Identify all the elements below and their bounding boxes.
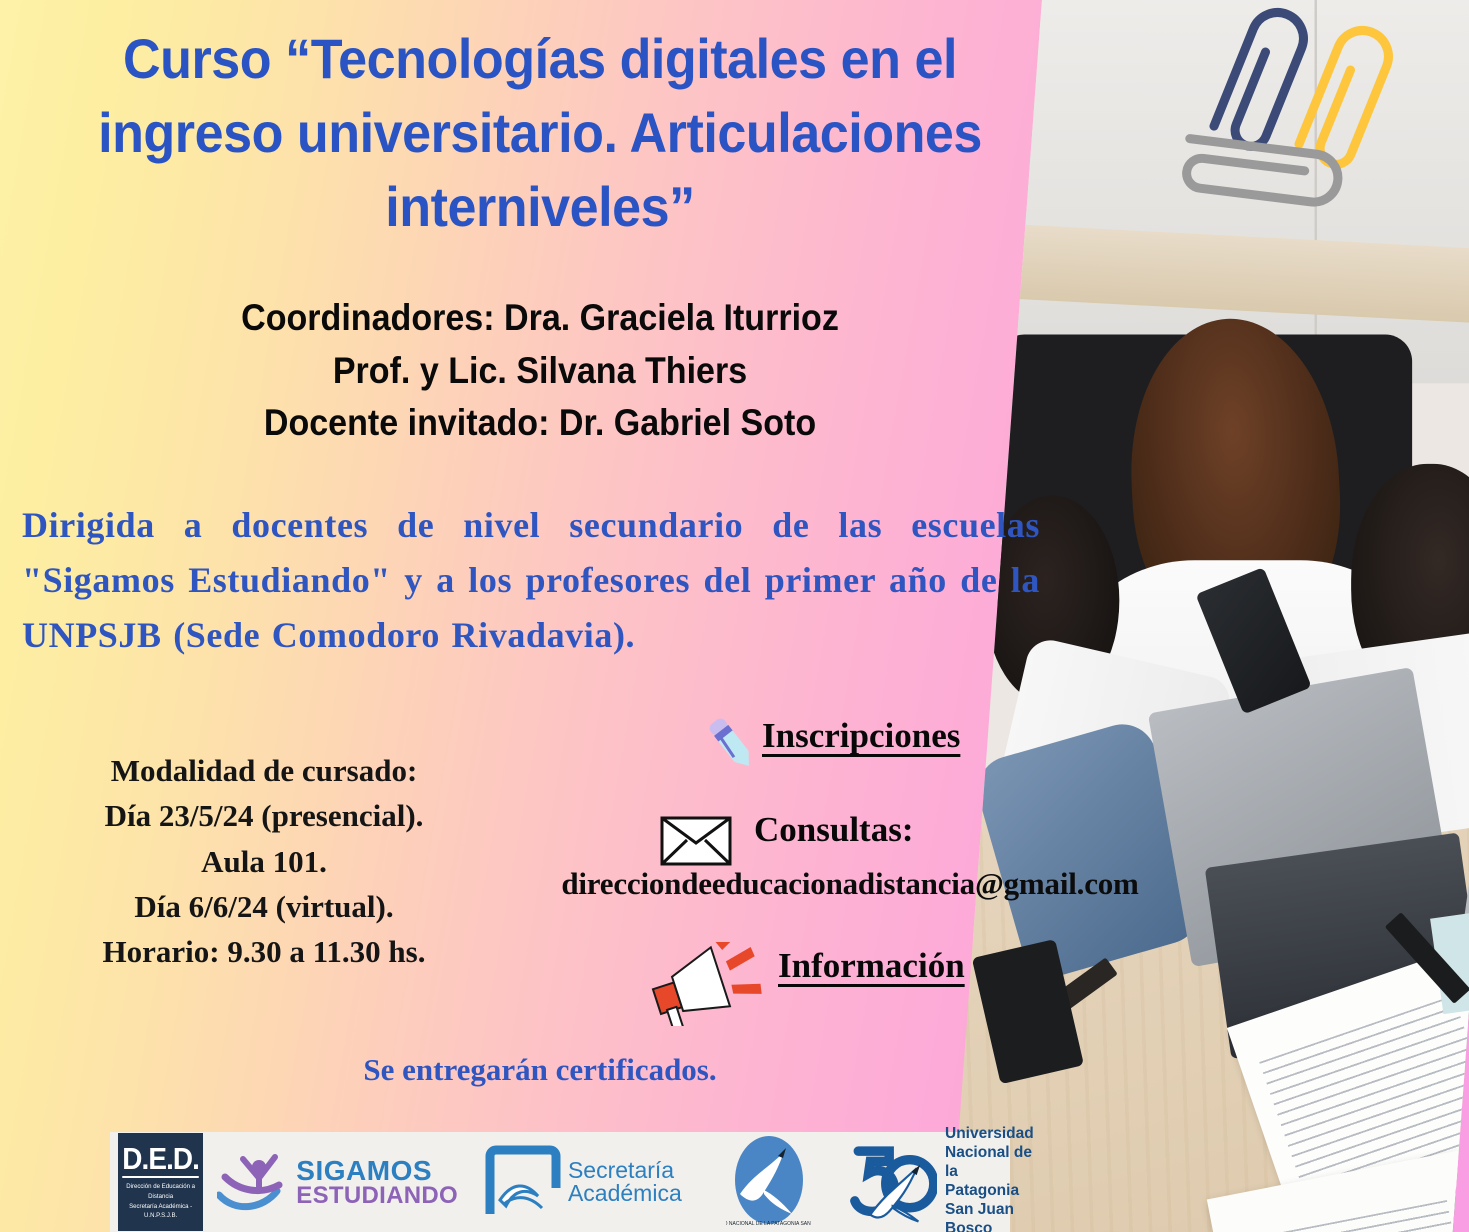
modality-line-5: Horario: 9.30 a 11.30 hs. xyxy=(14,929,514,974)
poster-canvas: Curso “Tecnologías digitales en el ingre… xyxy=(0,0,1469,1232)
coordinators-line-1: Coordinadores: Dra. Graciela Iturrioz xyxy=(71,292,1009,345)
certificates-note: Se entregarán certificados. xyxy=(30,1052,1050,1088)
fifty-anniversary-icon xyxy=(848,1136,937,1228)
logo-secretaria-academica: Secretaría Académica xyxy=(482,1142,682,1222)
pen-icon xyxy=(700,710,762,776)
universidad-line-3: Patagonia xyxy=(945,1182,1048,1201)
logo-unpsjb-seal: UNIVERSIDAD NACIONAL DE LA PATAGONIA SAN… xyxy=(726,1132,812,1232)
audience-paragraph: Dirigida a docentes de nivel secundario … xyxy=(22,498,1040,663)
ded-subtitle: Dirección de Educación a Distancia Secre… xyxy=(120,1182,201,1220)
paperclip-group xyxy=(1190,0,1469,288)
secretaria-wordmark: Secretaría Académica xyxy=(568,1159,682,1205)
megaphone-icon xyxy=(648,942,768,1026)
information-label: Información xyxy=(778,946,965,986)
sigamos-figure-icon xyxy=(217,1151,293,1213)
title-line-2: ingreso universitario. Articulaciones xyxy=(66,96,1015,170)
universidad-line-4: San Juan Bosco xyxy=(945,1201,1048,1232)
inscriptions-block: Inscripciones xyxy=(700,716,1060,768)
sigamos-line-2: ESTUDIANDO xyxy=(296,1184,458,1207)
information-block: Información xyxy=(648,938,1048,1028)
logo-ded: D.E.D. Dirección de Educación a Distanci… xyxy=(118,1133,203,1231)
ded-subtitle-line-2: Secretaría Académica - U.N.P.S.J.B. xyxy=(120,1202,201,1221)
secretaria-line-1: Secretaría xyxy=(568,1159,682,1182)
content-column: Curso “Tecnologías digitales en el ingre… xyxy=(0,0,1060,1232)
logo-bar: D.E.D. Dirección de Educación a Distanci… xyxy=(110,1132,1010,1232)
unpsjb-albatross-seal-icon: UNIVERSIDAD NACIONAL DE LA PATAGONIA SAN… xyxy=(726,1132,812,1228)
modality-line-2: Día 23/5/24 (presencial). xyxy=(14,793,514,838)
universidad-line-1: Universidad xyxy=(945,1125,1048,1144)
sigamos-wordmark: SIGAMOS ESTUDIANDO xyxy=(296,1157,458,1207)
secretaria-line-2: Académica xyxy=(568,1182,682,1205)
paperclip-gray-icon xyxy=(1165,96,1365,236)
inscriptions-row: Inscripciones xyxy=(700,716,1060,768)
page-title: Curso “Tecnologías digitales en el ingre… xyxy=(66,22,1015,244)
logo-sigamos-estudiando: SIGAMOS ESTUDIANDO xyxy=(217,1151,458,1213)
contact-email[interactable]: direcciondeeducacionadistancia@gmail.com xyxy=(470,866,1230,902)
svg-text:UNIVERSIDAD NACIONAL DE LA PAT: UNIVERSIDAD NACIONAL DE LA PATAGONIA SAN… xyxy=(726,1221,812,1227)
coordinators-block: Coordinadores: Dra. Graciela Iturrioz Pr… xyxy=(71,292,1009,450)
modality-line-3: Aula 101. xyxy=(14,839,514,884)
modality-block: Modalidad de cursado: Día 23/5/24 (prese… xyxy=(14,748,514,974)
universidad-line-2: Nacional de la xyxy=(945,1144,1048,1182)
ded-acronym: D.E.D. xyxy=(122,1143,199,1178)
universidad-wordmark: Universidad Nacional de la Patagonia San… xyxy=(945,1125,1048,1232)
sigamos-line-1: SIGAMOS xyxy=(296,1157,458,1184)
coordinators-line-3: Docente invitado: Dr. Gabriel Soto xyxy=(71,397,1009,450)
ded-subtitle-line-1: Dirección de Educación a Distancia xyxy=(120,1182,201,1201)
secretaria-bird-square-icon xyxy=(482,1142,564,1222)
inscriptions-label: Inscripciones xyxy=(762,716,960,756)
photo-paper-text-lines xyxy=(1236,1200,1469,1232)
modality-line-4: Día 6/6/24 (virtual). xyxy=(14,884,514,929)
title-line-1: Curso “Tecnologías digitales en el xyxy=(66,22,1015,96)
envelope-icon xyxy=(660,816,732,866)
logo-50-aniversario: Universidad Nacional de la Patagonia San… xyxy=(848,1125,1049,1232)
coordinators-line-2: Prof. y Lic. Silvana Thiers xyxy=(71,345,1009,398)
consultations-label: Consultas: xyxy=(754,810,913,850)
title-line-3: interniveles” xyxy=(66,170,1015,244)
modality-line-1: Modalidad de cursado: xyxy=(14,748,514,793)
